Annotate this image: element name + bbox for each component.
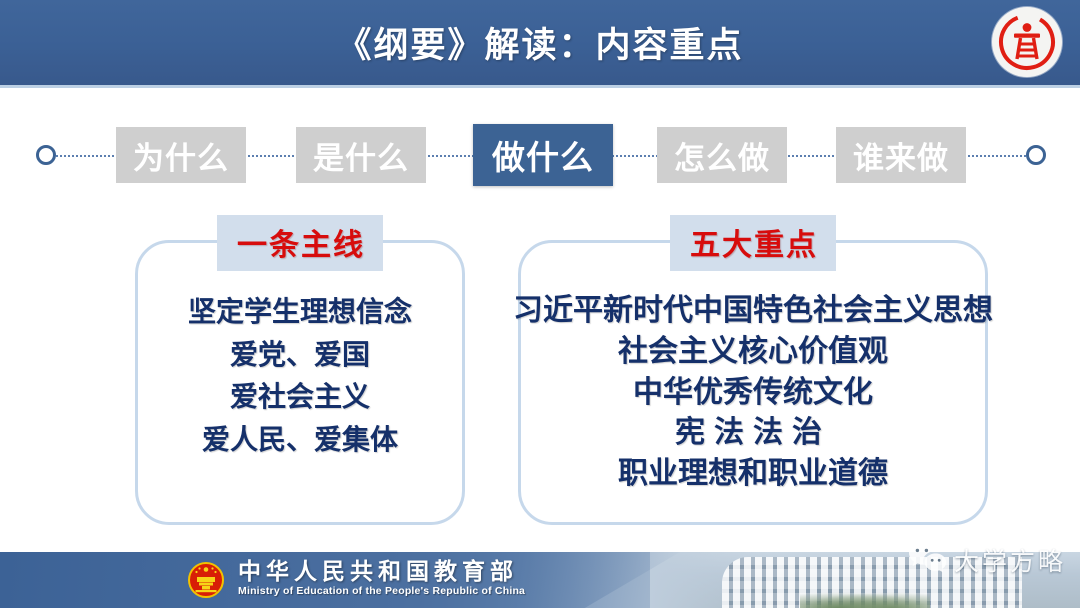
step-chip-label: 为什么 [133,133,229,178]
card-badge-title: 一条主线 [217,215,383,271]
card-line: 职业理想和职业道德 [618,454,888,495]
step-chip-label: 怎么做 [674,133,770,178]
step-chip-weishenme[interactable]: 为什么 [116,127,246,183]
content-cards: 一条主线 坚定学生理想信念 爱党、爱国 爱社会主义 爱人民、爱集体 五大重点 习… [0,240,1080,530]
slide: 《纲要》解读：内容重点 为什么 是什么 做什么 怎么做 [0,0,1080,608]
card-one-main-line: 一条主线 坚定学生理想信念 爱党、爱国 爱社会主义 爱人民、爱集体 [135,240,465,525]
card-body: 习近平新时代中国特色社会主义思想 社会主义核心价值观 中华优秀传统文化 宪法法治… [521,291,985,495]
step-chip-zuoshenme[interactable]: 做什么 [473,124,613,186]
step-chip-label: 做什么 [492,131,594,179]
watermark-label: 大学方略 [954,542,1066,578]
china-national-emblem-icon [186,560,226,600]
card-line: 坚定学生理想信念 [188,291,412,334]
step-chip-sheilaizuo[interactable]: 谁来做 [836,127,966,183]
card-five-key-points: 五大重点 习近平新时代中国特色社会主义思想 社会主义核心价值观 中华优秀传统文化… [518,240,988,525]
organization-logo-icon [992,7,1062,77]
wechat-watermark: 大学方略 [907,540,1066,579]
card-line: 宪法法治 [675,413,831,454]
card-line: 中华优秀传统文化 [633,373,873,414]
ministry-wordmark: 中华人民共和国教育部 Ministry of Education of the … [238,559,525,597]
header-divider [0,85,1080,88]
step-chip-zenmezuo[interactable]: 怎么做 [657,127,787,183]
page-title: 《纲要》解读：内容重点 [0,0,1080,85]
card-body: 坚定学生理想信念 爱党、爱国 爱社会主义 爱人民、爱集体 [138,291,462,461]
card-line: 习近平新时代中国特色社会主义思想 [513,291,993,332]
ministry-name-en: Ministry of Education of the People's Re… [238,585,525,597]
card-line: 爱人民、爱集体 [202,419,398,462]
wechat-icon [907,540,947,579]
ministry-name-cn: 中华人民共和国教育部 [238,559,525,585]
step-chip-label: 谁来做 [853,133,949,178]
card-line: 爱党、爱国 [230,334,370,377]
foliage [800,592,930,608]
step-navigation: 为什么 是什么 做什么 怎么做 谁来做 [0,118,1080,192]
card-line: 爱社会主义 [230,376,370,419]
step-chip-label: 是什么 [313,133,409,178]
card-line: 社会主义核心价值观 [618,332,888,373]
step-chip-shishenme[interactable]: 是什么 [296,127,426,183]
step-chip-list: 为什么 是什么 做什么 怎么做 谁来做 [0,118,1080,192]
card-badge-title: 五大重点 [670,215,836,271]
